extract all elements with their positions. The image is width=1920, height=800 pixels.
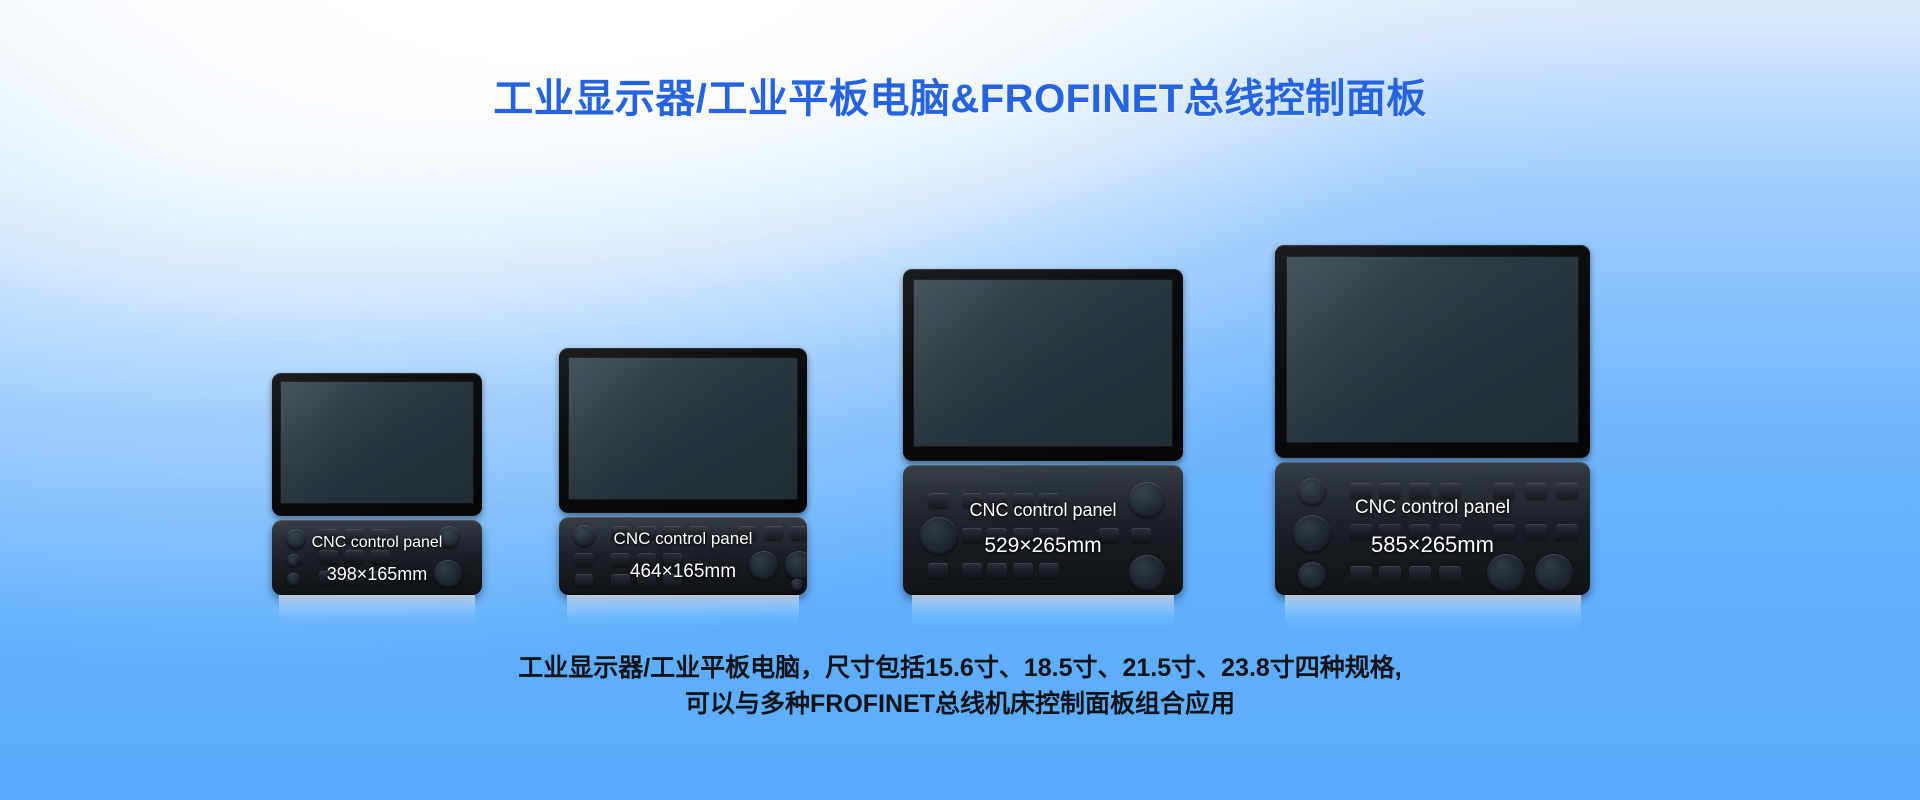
control-panel-size-3: 529×265mm: [903, 534, 1183, 558]
control-panel-size-2: 464×165mm: [559, 561, 807, 583]
monitor-4: [1275, 245, 1590, 458]
device-1[interactable]: CNC control panel 398×165mm: [272, 373, 482, 595]
control-panel-size-4: 585×265mm: [1275, 532, 1590, 558]
knob-icon[interactable]: [1535, 554, 1573, 592]
device-reflection: [1285, 595, 1581, 631]
knob-icon[interactable]: [1129, 555, 1165, 591]
device-lineup: CNC control panel 398×165mm: [0, 175, 1920, 595]
panel-key-button[interactable]: [319, 550, 338, 564]
panel-key-button[interactable]: [1350, 566, 1372, 582]
panel-key-button[interactable]: [1379, 566, 1401, 582]
panel-key-button[interactable]: [1039, 563, 1059, 578]
monitor-2: [559, 348, 807, 513]
monitor-screen-4: [1286, 256, 1579, 443]
panel-key-button[interactable]: [345, 550, 364, 564]
panel-key-button[interactable]: [371, 550, 390, 564]
control-panel-label-1: CNC control panel: [272, 534, 482, 552]
control-panel-1[interactable]: CNC control panel 398×165mm: [272, 520, 482, 595]
knob-icon[interactable]: [1298, 562, 1326, 590]
device-3[interactable]: CNC control panel 529×265mm: [903, 269, 1183, 595]
monitor-3: [903, 269, 1183, 461]
page-title: 工业显示器/工业平板电脑&FROFINET总线控制面板: [0, 66, 1920, 124]
control-panel-3[interactable]: CNC control panel 529×265mm: [903, 465, 1183, 595]
caption-line-2: 可以与多种FROFINET总线机床控制面板组合应用: [0, 687, 1920, 723]
device-2[interactable]: CNC control panel 464×165mm: [559, 348, 807, 595]
panel-key-button[interactable]: [962, 563, 982, 578]
panel-key-button[interactable]: [1013, 563, 1033, 578]
caption-line-1: 工业显示器/工业平板电脑，尺寸包括15.6寸、18.5寸、21.5寸、23.8寸…: [0, 651, 1920, 687]
monitor-screen-1: [280, 381, 474, 504]
panel-key-button[interactable]: [1439, 566, 1461, 582]
banner-caption: 工业显示器/工业平板电脑，尺寸包括15.6寸、18.5寸、21.5寸、23.8寸…: [0, 651, 1920, 722]
device-reflection: [567, 595, 799, 627]
device-reflection: [279, 595, 475, 625]
device-4[interactable]: CNC control panel 585×265mm: [1275, 245, 1590, 595]
control-panel-label-3: CNC control panel: [903, 500, 1183, 521]
monitor-screen-3: [913, 279, 1173, 447]
panel-key-button[interactable]: [928, 563, 948, 578]
monitor-screen-2: [568, 357, 798, 500]
control-panel-label-4: CNC control panel: [1275, 497, 1590, 519]
control-panel-size-1: 398×165mm: [272, 564, 482, 585]
product-banner: 工业显示器/工业平板电脑&FROFINET总线控制面板: [0, 0, 1920, 800]
monitor-1: [272, 373, 482, 516]
control-panel-2[interactable]: CNC control panel 464×165mm: [559, 517, 807, 595]
panel-key-button[interactable]: [987, 563, 1007, 578]
panel-key-button[interactable]: [1409, 566, 1431, 582]
knob-icon[interactable]: [1487, 554, 1525, 592]
control-panel-label-2: CNC control panel: [559, 529, 807, 549]
control-panel-4[interactable]: CNC control panel 585×265mm: [1275, 462, 1590, 595]
device-reflection: [912, 595, 1174, 629]
